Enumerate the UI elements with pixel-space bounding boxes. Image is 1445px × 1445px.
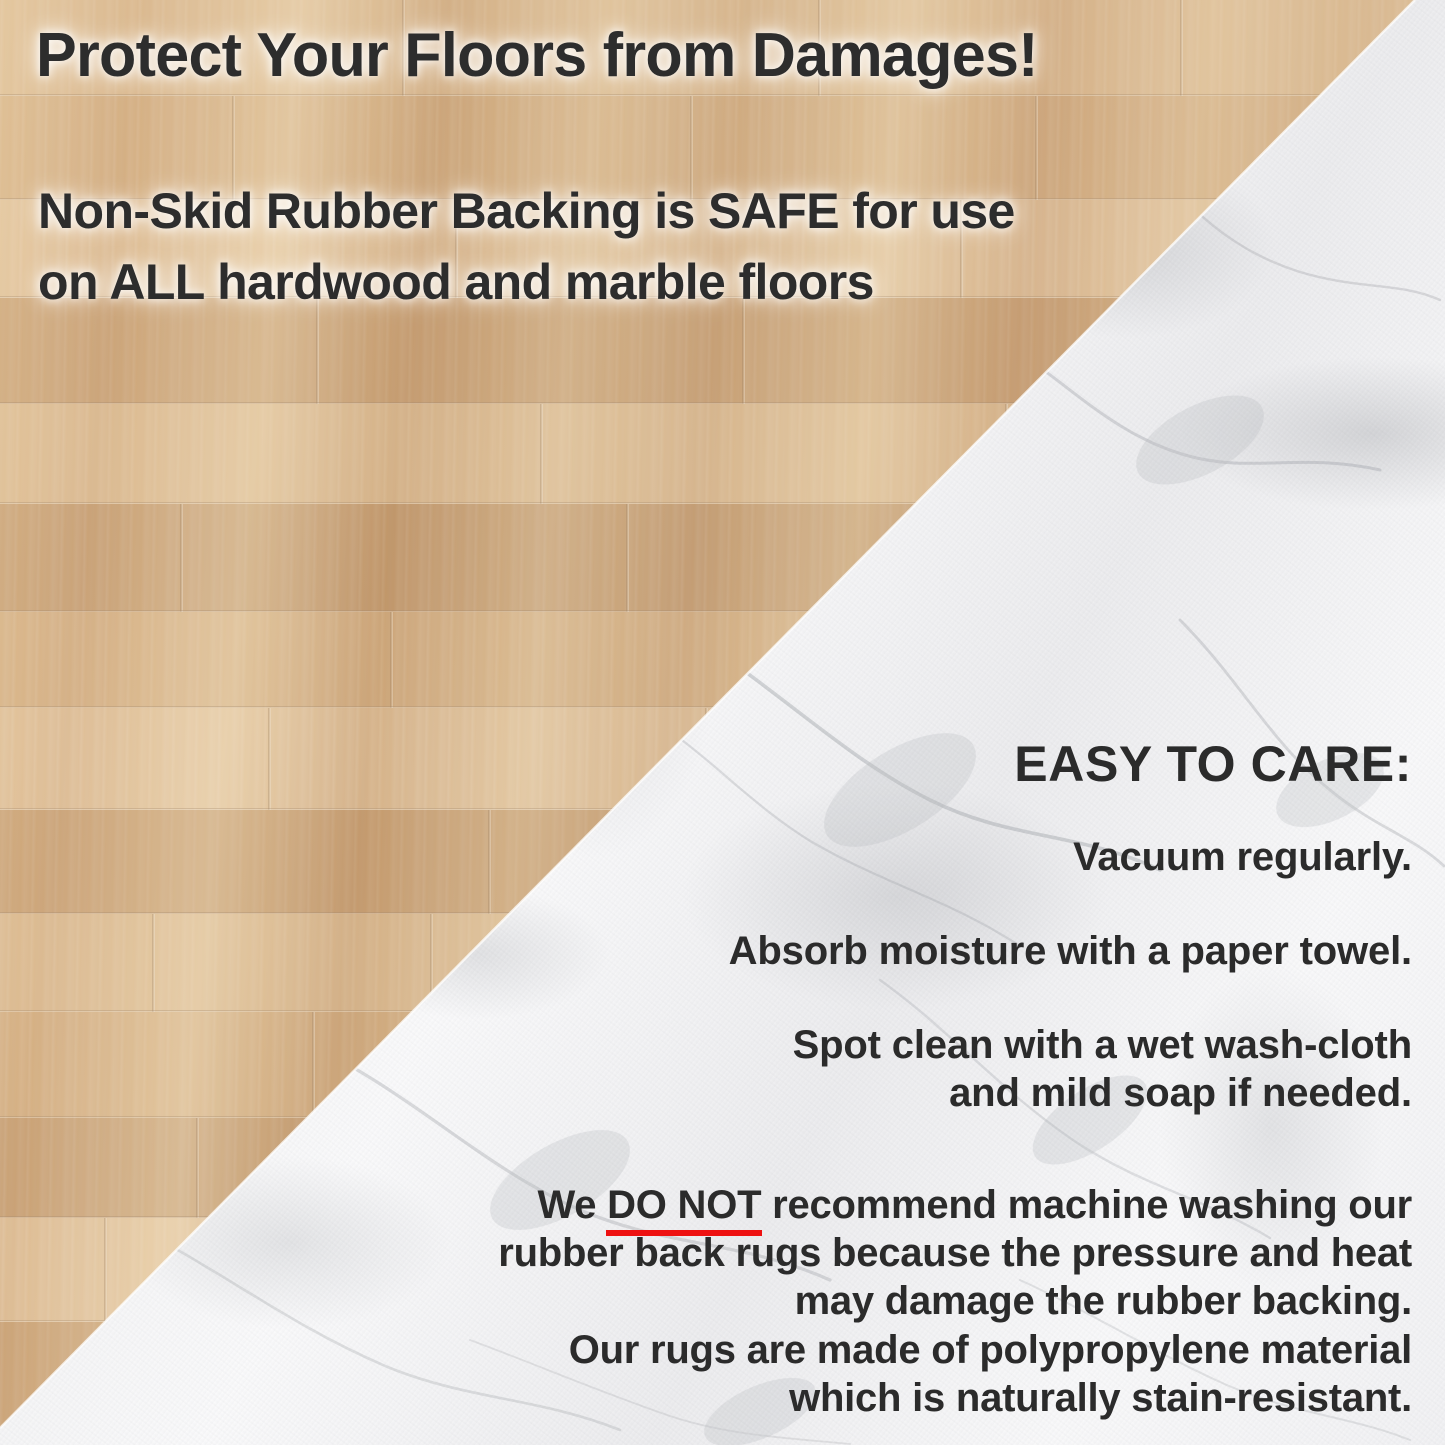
care-instruction-list: Vacuum regularly. Absorb moisture with a… — [729, 834, 1412, 1117]
plank-joint — [268, 708, 271, 810]
warning-line-5: which is naturally stain-resistant. — [498, 1374, 1412, 1422]
warning-line-1: We DO NOT recommend machine washing our — [498, 1181, 1412, 1229]
plank-joint — [104, 1218, 107, 1322]
product-care-infographic: Protect Your Floors from Damages! Non-Sk… — [0, 0, 1445, 1445]
subtitle-line-2: on ALL hardwood and marble floors — [38, 247, 1015, 318]
plank-joint — [540, 404, 543, 504]
subtitle: Non-Skid Rubber Backing is SAFE for use … — [38, 176, 1015, 318]
plank-joint — [1035, 96, 1038, 200]
plank-joint — [1180, 0, 1183, 96]
plank-joint — [196, 1118, 199, 1218]
plank-joint — [312, 1012, 315, 1118]
care-item: Spot clean with a wet wash-cloth and mil… — [729, 1022, 1412, 1116]
do-not-emphasis: DO NOT — [607, 1183, 761, 1227]
care-section-heading: EASY TO CARE: — [1014, 735, 1412, 793]
plank-joint — [626, 504, 629, 612]
plank-joint — [152, 914, 155, 1012]
plank-joint — [488, 810, 491, 914]
plank-joint — [180, 504, 183, 612]
plank-joint — [390, 612, 393, 708]
care-item: Absorb moisture with a paper towel. — [729, 928, 1412, 975]
machine-washing-warning: We DO NOT recommend machine washing our … — [498, 1181, 1412, 1422]
page-title: Protect Your Floors from Damages! — [36, 24, 1038, 88]
care-item: Vacuum regularly. — [729, 834, 1412, 881]
warning-line-2: rubber back rugs because the pressure an… — [498, 1229, 1412, 1277]
warning-line-4: Our rugs are made of polypropylene mater… — [498, 1326, 1412, 1374]
warning-line-3: may damage the rubber backing. — [498, 1277, 1412, 1325]
warning-text-before: We — [537, 1183, 607, 1227]
warning-text-after: recommend machine washing our — [761, 1183, 1412, 1227]
subtitle-line-1: Non-Skid Rubber Backing is SAFE for use — [38, 176, 1015, 247]
